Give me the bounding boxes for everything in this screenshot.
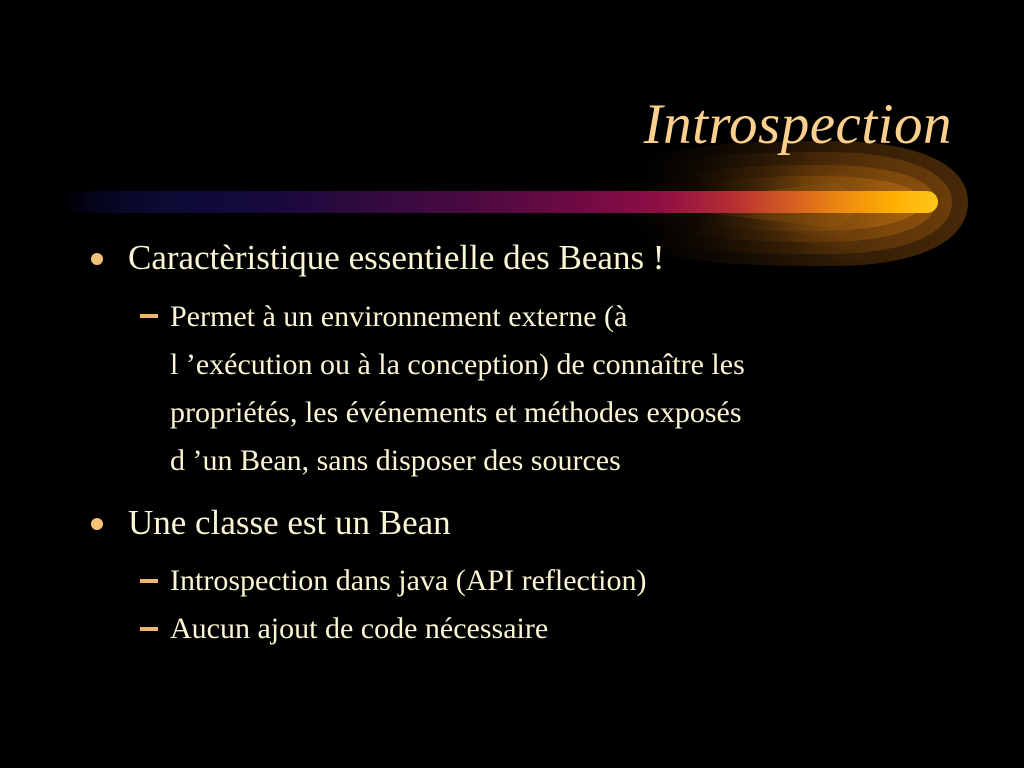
sub-bullet-line: propriétés, les événements et méthodes e… [170, 389, 970, 437]
dash-icon [140, 627, 158, 631]
bullet-item-level2: Aucun ajout de code nécessaire [0, 605, 1024, 653]
spacer [0, 547, 1024, 557]
spacer [0, 283, 1024, 293]
spacer [0, 485, 1024, 503]
sub-bullet-line: d ’un Bean, sans disposer des sources [170, 437, 970, 485]
bullet-item-level2: Introspection dans java (API reflection) [0, 557, 1024, 605]
sub-bullet-label: Aucun ajout de code nécessaire [170, 605, 970, 653]
page-title: Introspection [644, 96, 952, 153]
sub-bullet-line: l ’exécution ou à la conception) de conn… [170, 341, 970, 389]
bullet-label: Une classe est un Bean [128, 503, 451, 542]
bullet-item-level1: Une classe est un Bean [0, 503, 1024, 544]
bullet-dot-icon [91, 253, 103, 265]
slide-body: Caractèristique essentielle des Beans ! … [0, 238, 1024, 653]
sub-bullet-line: Permet à un environnement externe (à [170, 293, 970, 341]
title-area: Introspection [0, 96, 952, 153]
dash-icon [140, 314, 158, 318]
slide: Introspection Caractèristique essentiell… [0, 0, 1024, 768]
sub-bullet-label: Introspection dans java (API reflection) [170, 557, 970, 605]
bullet-item-level1: Caractèristique essentielle des Beans ! [0, 238, 1024, 279]
bullet-label: Caractèristique essentielle des Beans ! [128, 238, 664, 277]
bullet-item-level2: Permet à un environnement externe (à l ’… [0, 293, 1024, 485]
dash-icon [140, 579, 158, 583]
bullet-dot-icon [91, 518, 103, 530]
